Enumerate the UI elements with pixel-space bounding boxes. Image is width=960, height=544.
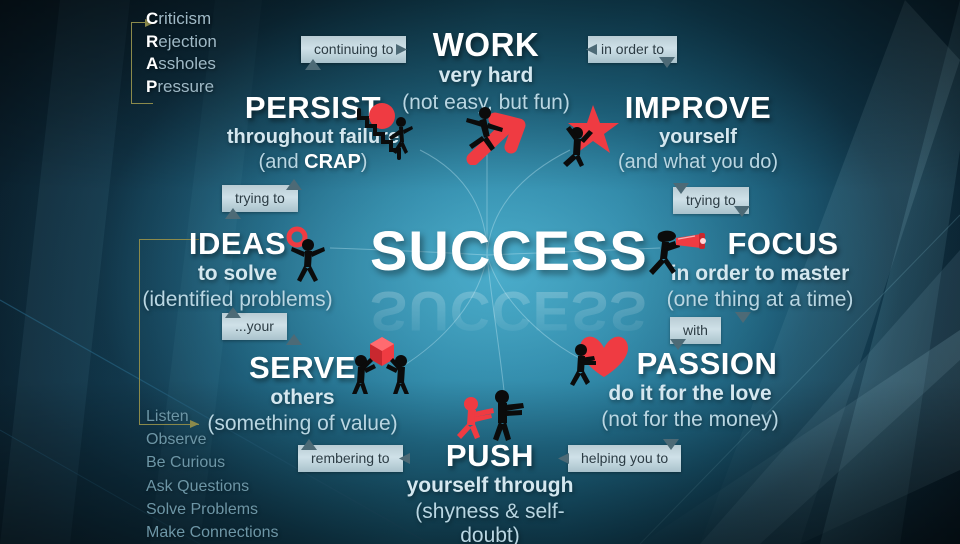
chip-trying-to-right-pointer-icon [672,182,690,196]
work-keyword: WORK [386,28,586,61]
work-subtitle: very hard [386,64,586,88]
chip-your-tail-icon [285,333,303,347]
chip-in-order-to-pointer-icon [585,43,601,59]
stick-figure-holding-star-icon [553,103,625,169]
crap-initial: R [146,32,158,51]
persist-paren-pre: (and [259,151,305,173]
chip-helping-you-to-tail-icon [662,438,680,452]
node-push[interactable]: PUSH yourself through (shyness & self-do… [390,440,590,544]
push-paren: (shyness & self-doubt) [390,500,590,544]
skill-item: Make Connections [146,521,279,544]
stick-figure-with-hammer-icon [445,103,535,165]
crap-item: Criticism [146,8,217,31]
crap-item: Rejection [146,31,217,54]
passion-paren: (not for the money) [580,408,800,432]
two-stick-figures-pushing-icon [455,387,540,445]
stick-figure-with-lightbulb-icon [278,225,338,285]
crap-rest: ressure [157,77,214,96]
stick-figure-with-heart-icon [568,330,636,392]
crap-item: Pressure [146,76,217,99]
skill-item: Be Curious [146,451,279,474]
stick-figure-with-telescope-icon [645,227,715,282]
chip-continuing-to-tail-icon [303,58,321,72]
serve-paren: (something of value) [195,412,410,436]
crap-initial: P [146,77,157,96]
crap-acronym-list: Criticism Rejection Assholes Pressure [146,8,217,98]
push-subtitle: yourself through [390,474,590,498]
chip-rembering-to-pointer-icon [300,438,318,452]
two-stick-figures-passing-box-icon [348,332,418,394]
crap-item: Assholes [146,53,217,76]
ideas-paren: (identified problems) [130,288,345,312]
crap-initial: A [146,54,158,73]
chip-in-order-to-tail-icon [658,56,676,70]
chip-trying-to-right-tail-icon [733,205,751,219]
skill-item: Ask Questions [146,475,279,498]
center-success: SUCCESS SUCCESS [370,218,648,344]
chip-trying-to-left-tail-icon [224,207,242,221]
infographic-canvas: Criticism Rejection Assholes Pressure Li… [0,0,960,544]
crap-rest: ejection [158,32,217,51]
focus-paren: (one thing at a time) [645,288,875,312]
chip-with-pointer-icon [734,311,752,325]
skill-item: Solve Problems [146,498,279,521]
crap-initial: C [146,9,158,28]
persist-paren-bold: CRAP [304,151,361,173]
crap-rest: riticism [158,9,211,28]
chip-trying-to-left-pointer-icon [285,178,303,192]
crap-rest: ssholes [158,54,216,73]
success-title: SUCCESS [370,218,648,283]
